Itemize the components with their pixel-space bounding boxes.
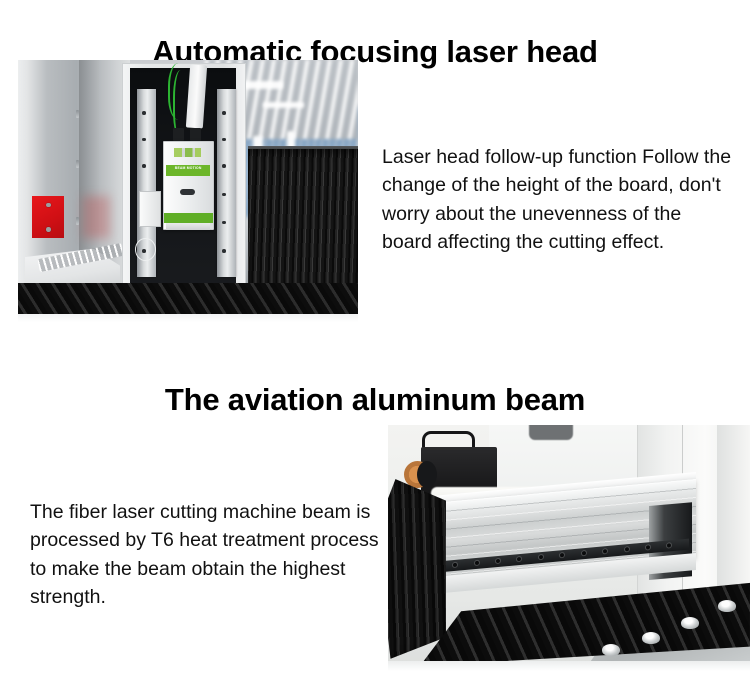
overhead-duct xyxy=(529,425,572,440)
cable-ring xyxy=(135,238,156,261)
photo-bottom-edge xyxy=(388,661,750,671)
red-service-panel xyxy=(32,196,64,238)
panel-screw xyxy=(76,160,79,168)
sensor-box xyxy=(139,191,161,227)
beam-motion-label-text: BEAM MOTION xyxy=(166,165,209,171)
beam-motion-label: BEAM MOTION xyxy=(166,165,209,176)
bellows-cover xyxy=(248,149,359,296)
coil-hub xyxy=(417,461,437,488)
bed-support-nub xyxy=(681,617,699,629)
cable-connector xyxy=(190,128,202,141)
aluminum-beam-description: The fiber laser cutting machine beam is … xyxy=(30,498,380,612)
laser-head-description: Laser head follow-up function Follow the… xyxy=(382,143,734,257)
head-brand-logo xyxy=(174,148,201,157)
bed-support-nub xyxy=(718,600,736,612)
bed-front-edge xyxy=(18,314,358,322)
laser-head-photo: BEAM MOTION xyxy=(18,60,358,322)
laser-cutting-head: BEAM MOTION xyxy=(163,141,214,229)
slat-cutting-bed xyxy=(18,283,358,314)
head-skirt xyxy=(166,223,209,231)
bed-support-nub xyxy=(602,644,620,656)
head-indicator-slot xyxy=(180,189,195,195)
product-feature-page: Automatic focusing laser head xyxy=(0,0,750,700)
page-title-aluminum-beam: The aviation aluminum beam xyxy=(0,383,750,417)
cable-connector xyxy=(173,128,185,141)
head-green-band xyxy=(164,213,213,223)
machine-side-cover-outer xyxy=(717,425,750,602)
ceiling-lamp-icon xyxy=(263,102,304,108)
red-panel-reflection xyxy=(83,196,110,238)
bellows-cover xyxy=(388,479,446,659)
panel-screw xyxy=(76,217,79,225)
panel-screw xyxy=(76,110,79,118)
linear-rail-right xyxy=(217,89,236,278)
bed-support-nub xyxy=(642,632,660,644)
aluminum-beam-photo xyxy=(388,425,750,671)
